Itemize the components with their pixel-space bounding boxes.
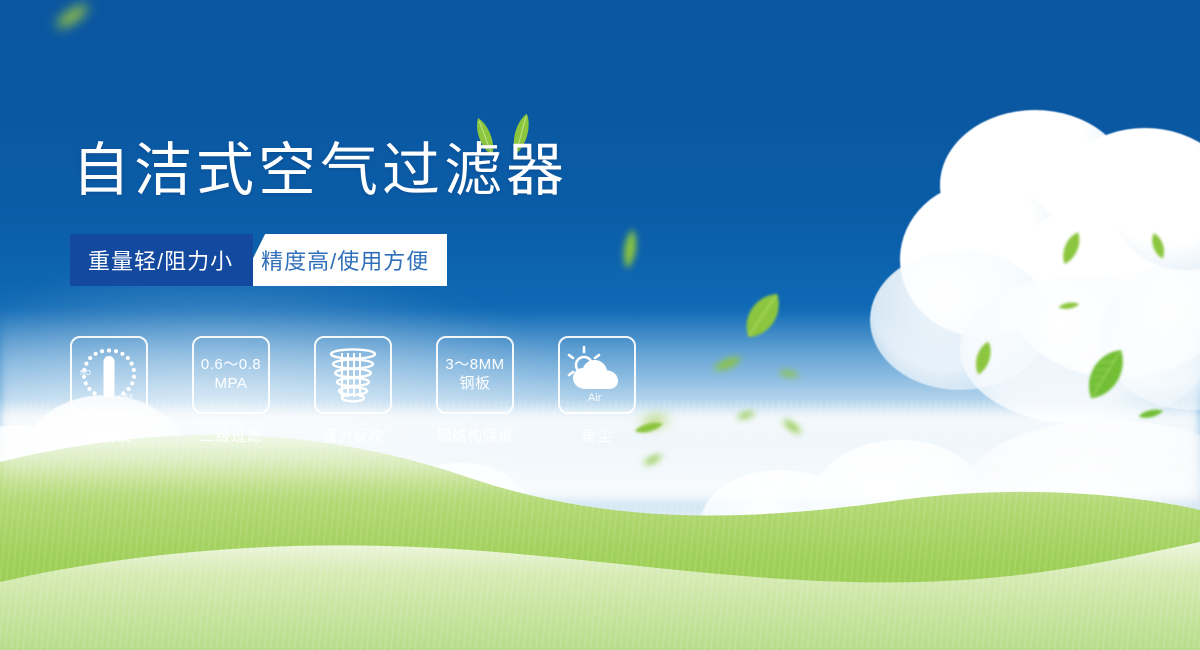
svg-text:OFF: OFF [119, 394, 134, 401]
subtitle-left: 重量轻/阻力小 [70, 234, 253, 286]
feature-list: NO OFF 控制仪 0.6～0.8MPA 二级过滤 [70, 336, 636, 446]
steel-plate-text: 3～8MM钢板 [445, 356, 504, 394]
blowback-coil-icon [314, 336, 392, 414]
feature-label: 钢结构强度 [436, 425, 514, 446]
feature-label: 集尘 [581, 425, 612, 446]
feature-item-steel[interactable]: 3～8MM钢板 钢结构强度 [436, 336, 514, 446]
leaf-icon [1057, 297, 1081, 315]
air-cloud-icon: Air [558, 336, 636, 414]
feature-item-blowback[interactable]: 强力反吹 [314, 336, 392, 446]
subtitle-right: 精度高/使用方便 [239, 234, 447, 286]
svg-text:Air: Air [588, 392, 602, 404]
page-title: 自洁式空气过滤器 [72, 142, 568, 200]
feature-item-pressure[interactable]: 0.6～0.8MPA 二级过滤 [192, 336, 270, 446]
feature-label: 二级过滤 [200, 425, 262, 446]
feature-label: 强力反吹 [322, 425, 384, 446]
pressure-text-icon: 0.6～0.8MPA [192, 336, 270, 414]
steel-plate-text-icon: 3～8MM钢板 [436, 336, 514, 414]
svg-text:NO: NO [80, 370, 91, 377]
feature-label: 控制仪 [86, 425, 133, 446]
pressure-text: 0.6～0.8MPA [201, 356, 261, 394]
control-dial-icon: NO OFF [70, 336, 148, 414]
subtitle-bar: 重量轻/阻力小 精度高/使用方便 [70, 234, 447, 286]
feature-item-dust[interactable]: Air 集尘 [558, 336, 636, 446]
feature-item-control[interactable]: NO OFF 控制仪 [70, 336, 148, 446]
promo-banner: 自洁式空气过滤器 重量轻/阻力小 精度高/使用方便 [0, 0, 1200, 650]
